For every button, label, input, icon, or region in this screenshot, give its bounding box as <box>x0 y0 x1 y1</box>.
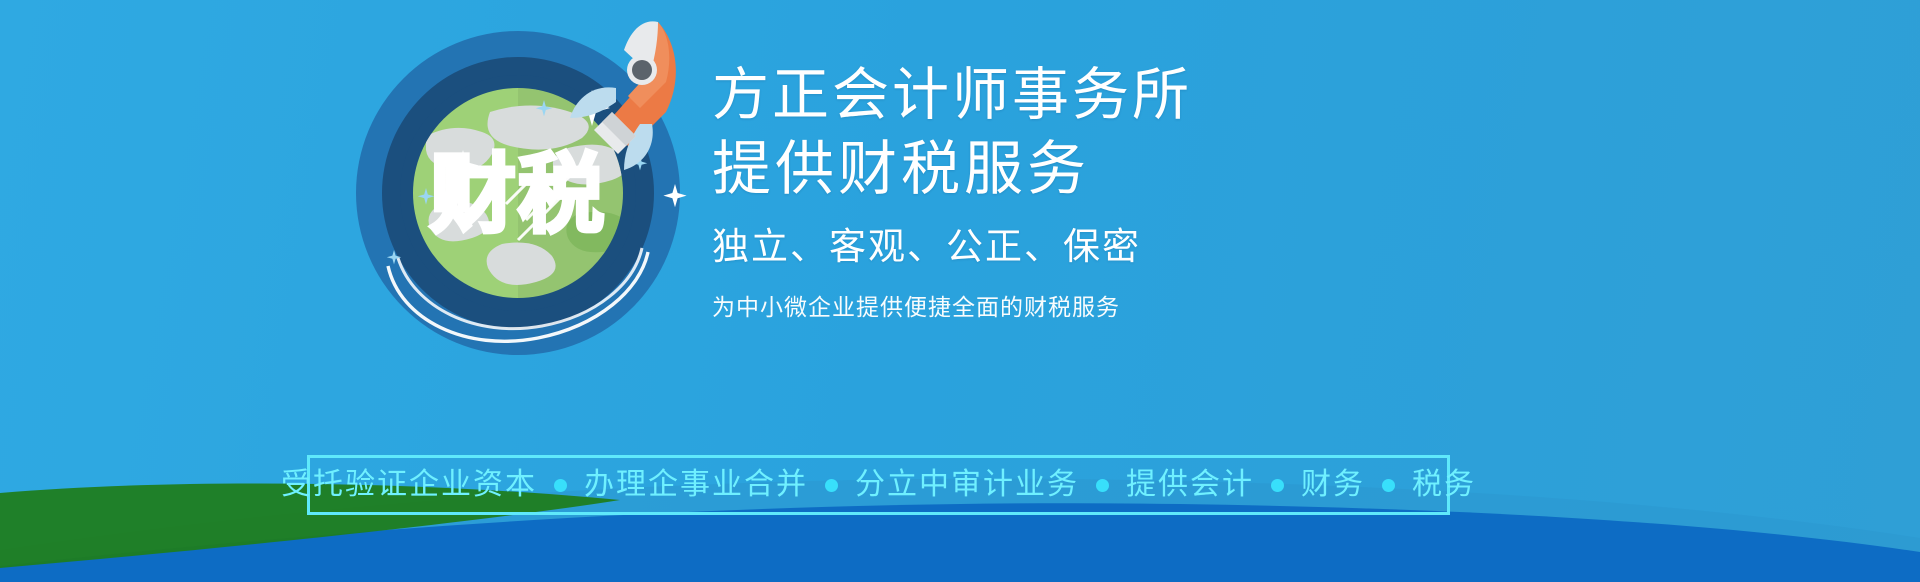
service-separator-dot <box>1271 479 1284 492</box>
promo-banner: 财税 方正会计师事务所 提供财税服务 独立、客观、公正、保密 为中小微企业提供便… <box>0 0 1920 582</box>
service-item: 分立中审计业务 <box>855 470 1079 500</box>
services-list: 受托验证企业资本办理企事业合并分立中审计业务提供会计财务税务 <box>281 470 1476 500</box>
illustration-svg: 财税 <box>330 8 750 368</box>
service-separator-dot <box>1096 479 1109 492</box>
rocket-window <box>632 60 652 80</box>
headline-line-1: 方正会计师事务所 <box>712 58 1472 132</box>
service-separator-dot <box>554 479 567 492</box>
service-item: 受托验证企业资本 <box>281 470 537 500</box>
banner-copy: 方正会计师事务所 提供财税服务 独立、客观、公正、保密 为中小微企业提供便捷全面… <box>712 58 1472 324</box>
globe-rocket-illustration: 财税 <box>330 8 750 368</box>
service-separator-dot <box>825 479 838 492</box>
headline-line-2: 提供财税服务 <box>712 132 1472 206</box>
banner-tagline: 为中小微企业提供便捷全面的财税服务 <box>712 290 1472 324</box>
services-bar: 受托验证企业资本办理企事业合并分立中审计业务提供会计财务税务 <box>307 455 1450 515</box>
service-item: 税务 <box>1412 470 1476 500</box>
banner-subline: 独立、客观、公正、保密 <box>712 220 1472 274</box>
service-item: 财务 <box>1301 470 1365 500</box>
service-separator-dot <box>1382 479 1395 492</box>
service-item: 提供会计 <box>1126 470 1254 500</box>
service-item: 办理企事业合并 <box>584 470 808 500</box>
globe-wordmark: 财税 <box>430 147 606 243</box>
